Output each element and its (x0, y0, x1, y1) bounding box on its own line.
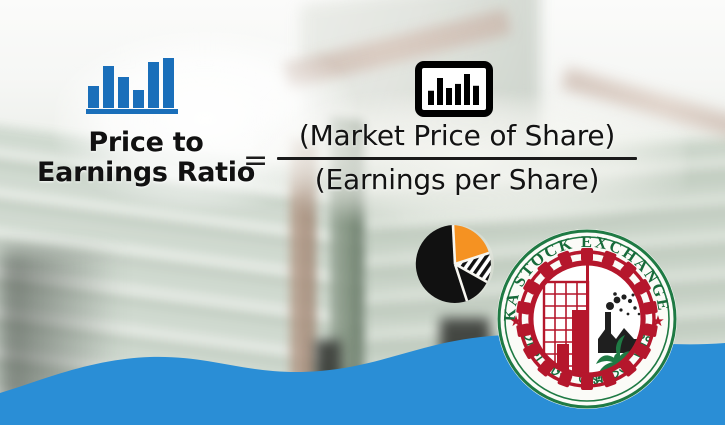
bar-chart-framed-icon (414, 60, 494, 118)
headline-line-2: Earnings Ratio (26, 158, 266, 188)
page-title: Price to Earnings Ratio (26, 128, 266, 188)
equals-sign: = (243, 143, 268, 178)
logo-emblem (532, 264, 643, 375)
formula-fraction: (Market Price of Share) (Earnings per Sh… (277, 118, 637, 198)
price-to-earnings-ratio-graphic: Price to Earnings Ratio = (Market Price … (0, 0, 725, 425)
formula-numerator: (Market Price of Share) (277, 118, 637, 154)
bar-chart-icon (86, 57, 180, 115)
formula-denominator: (Earnings per Share) (277, 162, 637, 198)
fraction-bar (277, 157, 637, 160)
headline-line-1: Price to (26, 128, 266, 158)
dhaka-stock-exchange-logo: DHAKA STOCK EXCHANGE LTD. ঢাকা স্টক এক্স… (494, 226, 680, 412)
pie-chart-icon (413, 224, 497, 304)
